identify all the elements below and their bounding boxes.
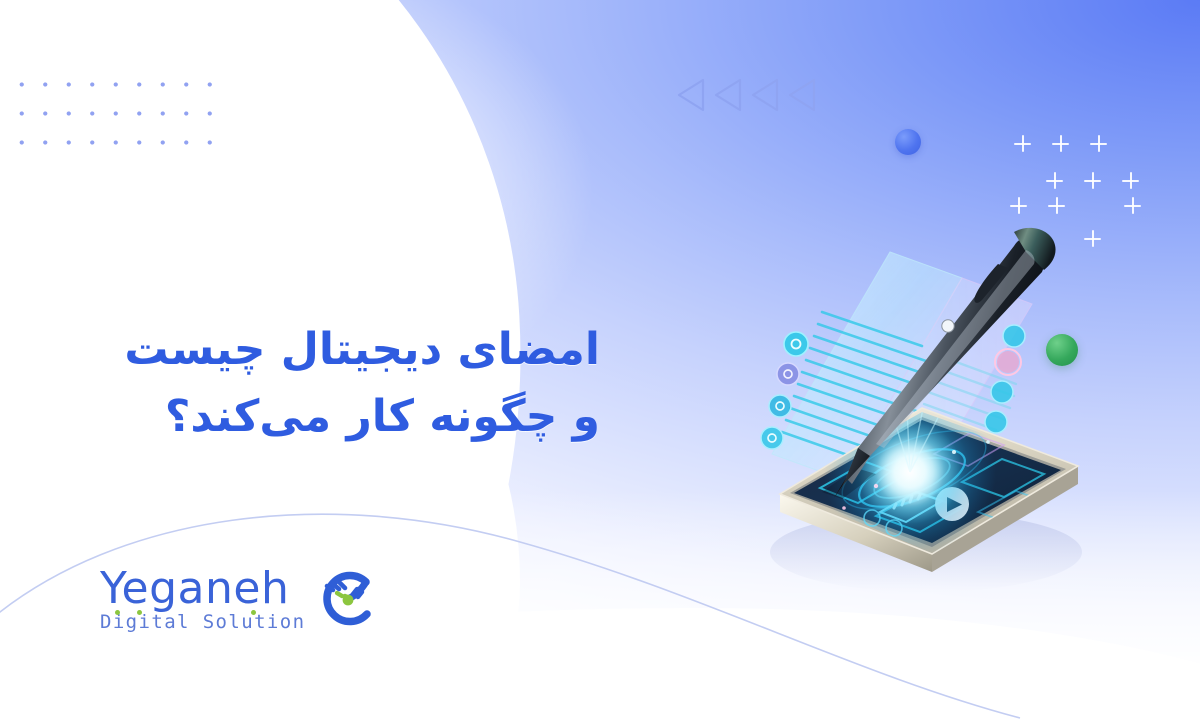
plus-icon — [1048, 197, 1065, 214]
plus-icon — [1010, 197, 1027, 214]
plus-icon — [1124, 197, 1141, 214]
badge-icon — [985, 411, 1007, 433]
badge-icon — [777, 363, 799, 385]
tagline-accent-dot — [251, 610, 256, 615]
left-arrow-triangles — [676, 78, 816, 112]
yeganeh-arc-mark-icon — [315, 566, 381, 632]
badge-icon — [995, 349, 1021, 375]
plus-icon — [1046, 172, 1063, 189]
banner-canvas: امضای دیجیتال چیست و چگونه کار می‌کند؟ — [0, 0, 1200, 720]
tagline-accent-dot — [115, 610, 120, 615]
triangle-left-icon — [787, 78, 816, 112]
badge-icon — [784, 332, 808, 356]
plus-icon — [1084, 172, 1101, 189]
badge-icon — [1003, 325, 1025, 347]
logo-name: Yeganeh — [100, 567, 305, 611]
digital-signature-3d-scene — [726, 216, 1116, 606]
triangle-left-icon — [713, 78, 742, 112]
badge-icon — [769, 395, 791, 417]
brand-logo[interactable]: Yeganeh Digital Solution — [100, 566, 381, 632]
badge-icon — [761, 427, 783, 449]
plus-icon — [1090, 135, 1107, 152]
plus-icon — [1052, 135, 1069, 152]
badge-icon — [991, 381, 1013, 403]
plus-icon — [1014, 135, 1031, 152]
plus-icon — [1122, 172, 1139, 189]
tagline-accent-dot — [137, 610, 142, 615]
headline-line-2: و چگونه کار می‌کند؟ — [80, 384, 600, 451]
triangle-left-icon — [676, 78, 705, 112]
page-title: امضای دیجیتال چیست و چگونه کار می‌کند؟ — [80, 317, 600, 451]
accent-circle-blue — [895, 129, 921, 155]
headline-line-1: امضای دیجیتال چیست — [80, 317, 600, 384]
triangle-left-icon — [750, 78, 779, 112]
logo-tagline: Digital Solution — [100, 613, 305, 632]
dot-grid-pattern — [8, 68, 220, 164]
